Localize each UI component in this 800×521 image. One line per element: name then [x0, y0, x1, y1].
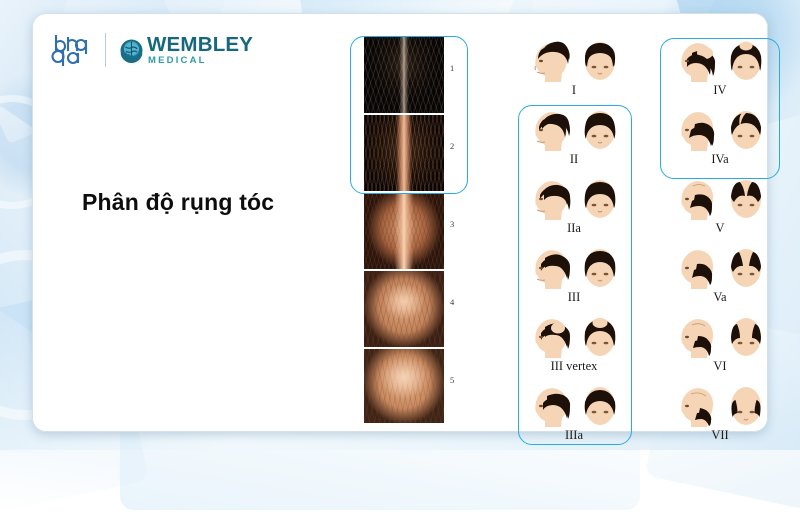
norwood-stage: VII [656, 380, 784, 449]
head-front-view-icon [725, 175, 767, 223]
stage-label: II [512, 153, 636, 166]
norwood-stage: Va [656, 242, 784, 311]
head-side-view-icon [673, 37, 719, 85]
norwood-stage: IIIa [512, 380, 636, 449]
stage-label: III [512, 291, 636, 304]
head-side-view-icon [673, 106, 719, 154]
norwood-stage: IVa [656, 104, 784, 173]
norwood-stage: II [512, 104, 636, 173]
brand-name: WEMBLEY [147, 35, 253, 56]
stage-illustrations [512, 242, 636, 292]
globe-gear-icon [119, 38, 144, 63]
head-front-view-icon [579, 106, 621, 154]
stage-illustrations [656, 380, 784, 430]
ludwig-photo: 2 [364, 115, 444, 193]
ludwig-photo: 1 [364, 37, 444, 115]
stage-label: IVa [656, 153, 784, 166]
norwood-stage: VI [656, 311, 784, 380]
stage-illustrations [512, 311, 636, 361]
stage-label: Va [656, 291, 784, 304]
stage-label: IV [656, 84, 784, 97]
stage-label: V [656, 222, 784, 235]
norwood-stage: IV [656, 35, 784, 104]
head-side-view-icon [527, 106, 573, 154]
stage-label: III vertex [512, 360, 636, 373]
stage-illustrations [656, 104, 784, 154]
head-front-view-icon [579, 175, 621, 223]
stage-label: VII [656, 429, 784, 442]
head-front-view-icon [725, 244, 767, 292]
head-front-view-icon [579, 313, 621, 361]
head-side-view-icon [673, 382, 719, 430]
ludwig-photo: 3 [364, 193, 444, 271]
logo-divider [105, 33, 106, 67]
brand-subtitle: MEDICAL [148, 56, 253, 66]
stage-label: I [512, 84, 636, 97]
head-side-view-icon [527, 175, 573, 223]
stage-illustrations [656, 35, 784, 85]
norwood-stage: III vertex [512, 311, 636, 380]
photo-number: 3 [450, 219, 454, 229]
bhga-monogram-icon [51, 31, 93, 69]
norwood-stage: I [512, 35, 636, 104]
wembley-logo: WEMBLEY MEDICAL [119, 35, 253, 66]
slide-card: WEMBLEY MEDICAL Phân độ rụng tóc 1 2 3 4… [32, 13, 768, 432]
stage-illustrations [512, 173, 636, 223]
head-front-view-icon [579, 382, 621, 430]
stage-illustrations [512, 104, 636, 154]
stage-label: VI [656, 360, 784, 373]
head-front-view-icon [725, 313, 767, 361]
head-side-view-icon [673, 244, 719, 292]
head-side-view-icon [527, 382, 573, 430]
norwood-stage: III [512, 242, 636, 311]
head-front-view-icon [725, 37, 767, 85]
stage-illustrations [656, 311, 784, 361]
stage-illustrations [656, 242, 784, 292]
stage-illustrations [656, 173, 784, 223]
norwood-column-right: IV IVa V Va [656, 35, 784, 449]
ludwig-photo: 4 [364, 271, 444, 349]
stage-illustrations [512, 380, 636, 430]
head-side-view-icon [527, 244, 573, 292]
photo-number: 4 [450, 297, 454, 307]
photo-number: 5 [450, 375, 454, 385]
logo-lockup: WEMBLEY MEDICAL [51, 29, 253, 71]
norwood-column-middle: I II IIa III [512, 35, 636, 449]
photo-number: 1 [450, 63, 454, 73]
stage-label: IIa [512, 222, 636, 235]
photo-number: 2 [450, 141, 454, 151]
head-front-view-icon [579, 37, 621, 85]
head-side-view-icon [527, 37, 573, 85]
norwood-stage: IIa [512, 173, 636, 242]
head-side-view-icon [527, 313, 573, 361]
head-front-view-icon [725, 106, 767, 154]
stage-label: IIIa [512, 429, 636, 442]
head-side-view-icon [673, 175, 719, 223]
stage-illustrations [512, 35, 636, 85]
ludwig-photo-strip: 1 2 3 4 5 [364, 37, 444, 425]
head-side-view-icon [673, 313, 719, 361]
page-title: Phân độ rụng tóc [82, 189, 274, 216]
norwood-stage: V [656, 173, 784, 242]
head-front-view-icon [579, 244, 621, 292]
ludwig-photo: 5 [364, 349, 444, 425]
head-front-view-icon [725, 382, 767, 430]
